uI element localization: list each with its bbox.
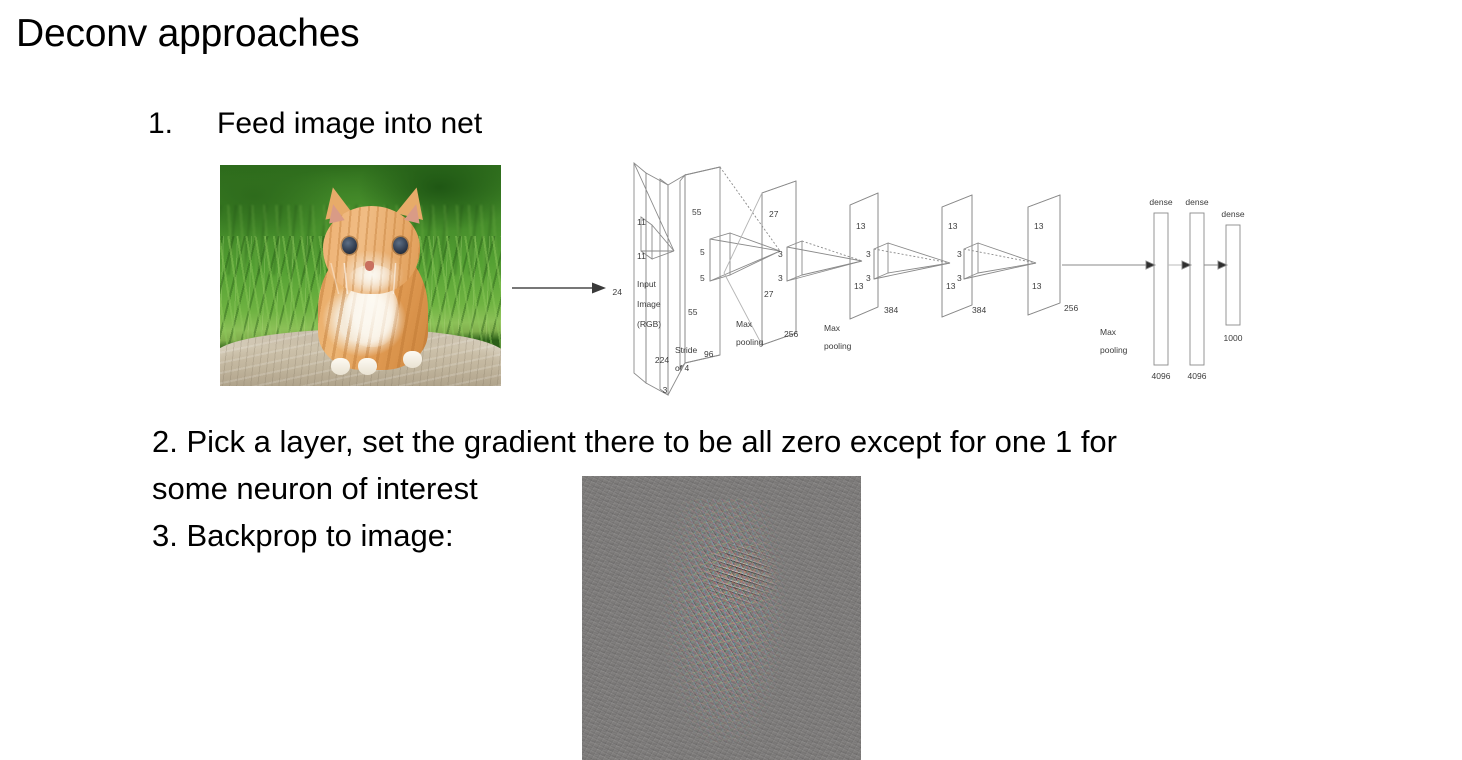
alexnet-label-kernel4-w: 3 [866, 249, 871, 259]
alexnet-label-conv2-out-w: 27 [769, 209, 779, 219]
alexnet-label-conv5-out-h: 13 [1032, 281, 1042, 291]
photo-kitten [304, 187, 439, 377]
alexnet-label-kernel1-h: 11 [637, 251, 646, 261]
alexnet-label-kernel2-h: 5 [700, 273, 705, 283]
gradient-cat-face-structure [694, 544, 778, 612]
flow-arrow-icon [512, 276, 608, 300]
alexnet-label-conv2-channels: 256 [784, 329, 798, 339]
alexnet-label-input-line1: Input [637, 279, 657, 289]
alexnet-label-kernel3-w: 3 [778, 249, 783, 259]
kitten-paw-front-left [331, 358, 350, 375]
alexnet-label-fc3-name: dense [1221, 209, 1244, 219]
alexnet-label-fc1-name: dense [1149, 197, 1172, 207]
alexnet-label-input-line2: Image [637, 299, 661, 309]
alexnet-label-fc1-units: 4096 [1152, 371, 1171, 381]
alexnet-label-kernel2-w: 5 [700, 247, 705, 257]
alexnet-label-pool3-line2: pooling [1100, 345, 1128, 355]
alexnet-label-pool2-line1: Max [824, 323, 841, 333]
alexnet-label-pool1-line1: Max [736, 319, 753, 329]
alexnet-label-fc2-units: 4096 [1188, 371, 1207, 381]
kitten-paw-hind [403, 351, 422, 368]
alexnet-label-fc2-name: dense [1185, 197, 1208, 207]
alexnet-label-conv3-out-w: 13 [856, 221, 866, 231]
slide-canvas: Deconv approaches 1. Feed image into net [0, 0, 1462, 760]
alexnet-label-conv1-out-w: 55 [692, 207, 702, 217]
alexnet-label-conv4-channels: 384 [972, 305, 986, 315]
alexnet-label-conv4-out-h: 13 [946, 281, 956, 291]
alexnet-label-conv3-out-h: 13 [854, 281, 864, 291]
alexnet-label-kernel5-h: 3 [957, 273, 962, 283]
alexnet-label-input-line3: (RGB) [637, 319, 661, 329]
kitten-eye-left [342, 237, 357, 254]
alexnet-label-conv2-out-h: 27 [764, 289, 774, 299]
alexnet-label-input-width: 224 [655, 355, 669, 365]
alexnet-label-kernel3-h: 3 [778, 273, 783, 283]
step-1-label: Feed image into net [217, 104, 482, 144]
kitten-eye-right [393, 237, 408, 254]
input-cat-photo [220, 165, 501, 386]
alexnet-label-input-depth: 3 [663, 385, 668, 395]
alexnet-label-kernel5-w: 3 [957, 249, 962, 259]
alexnet-label-conv3-channels: 384 [884, 305, 898, 315]
alexnet-label-conv5-channels: 256 [1064, 303, 1078, 313]
alexnet-label-fc3-units: 1000 [1224, 333, 1243, 343]
alexnet-label-conv4-out-w: 13 [948, 221, 958, 231]
step-1-number: 1. [148, 104, 217, 144]
step-2-line-1: 2. Pick a layer, set the gradient there … [152, 418, 1362, 465]
page-title: Deconv approaches [16, 11, 360, 57]
alexnet-label-conv1-channels: 96 [704, 349, 714, 359]
alexnet-label-stride-line2: of 4 [675, 363, 689, 373]
kitten-paw-front-right [358, 358, 377, 375]
alexnet-label-pool2-line2: pooling [824, 341, 852, 351]
alexnet-label-kernel1-w: 11 [637, 217, 646, 227]
kitten-inner-ear-right [404, 203, 424, 224]
alexnet-label-conv1-out-h: 55 [688, 307, 698, 317]
alexnet-label-input-height: 224 [612, 287, 622, 297]
kitten-whiskers [312, 263, 431, 293]
alexnet-label-conv5-out-w: 13 [1034, 221, 1044, 231]
alexnet-label-pool3-line1: Max [1100, 327, 1117, 337]
alexnet-architecture-diagram: 224 224 3 11 11 Input Image (RGB) Stride… [612, 155, 1272, 405]
alexnet-label-pool1-line2: pooling [736, 337, 764, 347]
step-1-item: 1. Feed image into net [148, 104, 482, 144]
alexnet-label-stride-line1: Stride [675, 345, 697, 355]
gradient-cat-structure [660, 499, 788, 743]
alexnet-label-kernel4-h: 3 [866, 273, 871, 283]
backprop-gradient-image [582, 476, 861, 760]
